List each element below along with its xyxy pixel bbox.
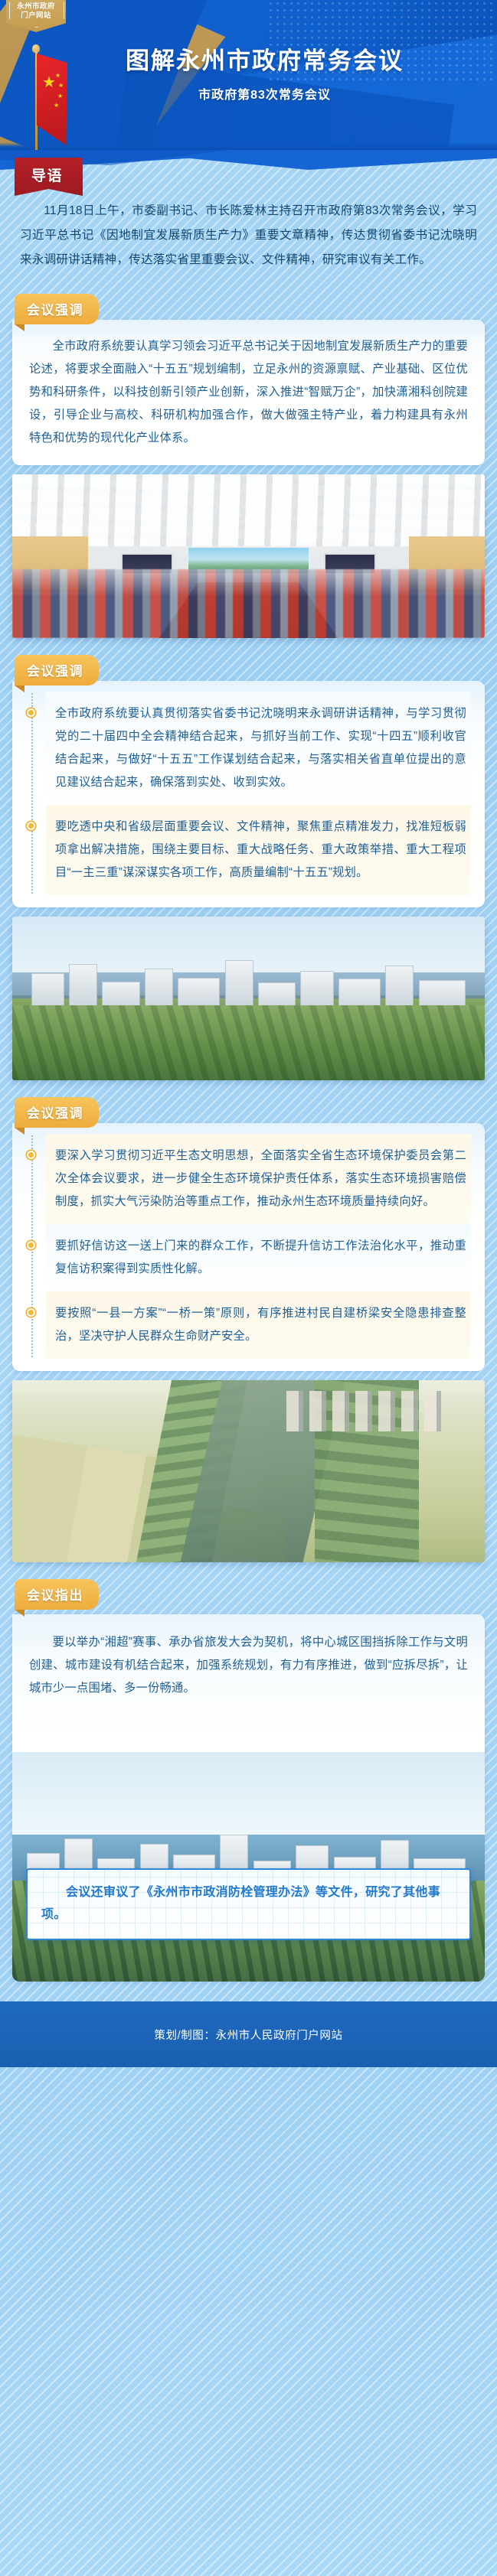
hero-text-group: 图解永州市政府常务会议 市政府第83次常务会议 [0,41,497,103]
section-1-badge: 会议强调 [15,294,99,324]
list-item: 要深入学习贯彻习近平生态文明思想，全面落实全省生态环境保护委员会第二次全体会议要… [46,1134,471,1224]
ceiling-lights [12,474,485,546]
section-1: 会议强调 全市政府系统要认真学习领会习近平总书记关于因地制宜发展新质生产力的重要… [0,294,497,465]
foreground-vegetation [12,1005,485,1080]
section-2: 会议强调 全市政府系统要认真贯彻落实省委书记沈晓明来永调研讲话精神，与学习贯彻党… [0,655,497,907]
intro-section: 导语 [0,158,497,196]
intro-badge-wrap: 导语 [15,158,83,196]
logo-line-2: 门户网站 [21,11,51,21]
section-1-paragraph: 全市政府系统要认真学习领会习近平总书记关于因地制宜发展新质生产力的重要论述，将要… [29,335,468,450]
logo-line-1: 永州市政府 [17,2,55,11]
bullet-dot-icon [27,708,35,717]
bullet-text: 要抓好信访这一送上门来的群众工作，不断提升信访工作法治化水平，推动重复信访积案得… [55,1235,466,1281]
photo-haze-overlay [12,1380,485,1562]
section-4-paragraph: 要以举办“湘超”赛事、承办省旅发大会为契机，将中心城区围挡拆除工作与文明创建、城… [29,1631,468,1700]
section-2-bullet-list: 全市政府系统要认真贯彻落实省委书记沈晓明来永调研讲话精神，与学习贯彻党的二十届四… [26,692,471,895]
list-item: 要吃透中央和省级层面重要会议、文件精神，聚焦重点精准发力，找准短板弱项拿出解决措… [46,805,471,895]
hero-banner: 永州市政府 门户网站 ★ ★ ★ ★ ★ 图解永州市政府常务会议 市政府第83次… [0,0,497,150]
infographic-page: 永州市政府 门户网站 ★ ★ ★ ★ ★ 图解永州市政府常务会议 市政府第83次… [0,0,497,2576]
buildings-group [12,946,485,1012]
intro-badge: 导语 [15,158,83,196]
rural-river-photo [12,1380,485,1562]
section-3-bullet-list: 要深入学习贯彻习近平生态文明思想，全面落实全省生态环境保护委员会第二次全体会议要… [26,1134,471,1359]
bullet-dot-icon [27,822,35,830]
section-1-badge-wrap: 会议强调 [15,294,99,324]
page-subtitle: 市政府第83次常务会议 [0,84,497,103]
section-4-card: 要以举办“湘超”赛事、承办省旅发大会为契机，将中心城区围挡拆除工作与文明创建、城… [12,1614,485,1982]
section-2-card: 全市政府系统要认真贯彻落实省委书记沈晓明来永调研讲话精神，与学习贯彻党的二十届四… [12,681,485,907]
section-3-badge: 会议强调 [15,1097,99,1128]
bullet-dot-icon [27,1308,35,1317]
section-4-badge-wrap: 会议指出 [15,1579,99,1610]
bullet-dot-icon [27,1151,35,1159]
building [225,960,253,1011]
resolution-box: 会议还审议了《永州市市政消防栓管理办法》等文件，研究了其他事项。 [26,1868,471,1940]
flag-star-small-4: ★ [54,103,59,109]
section-4: 会议指出 [0,1579,497,1610]
meeting-room-photo [12,474,485,638]
section-3-badge-wrap: 会议强调 [15,1097,99,1128]
footer: 策划/制图：永州市人民政府门户网站 [0,2001,497,2067]
bullet-text: 全市政府系统要认真贯彻落实省委书记沈晓明来永调研讲话精神，与学习贯彻党的二十届四… [55,702,466,794]
list-item: 要按照“一县一方案”“一桥一策”原则，有序推进村民自建桥梁安全隐患排查整治，坚决… [46,1291,471,1359]
section-4-text-wrap: 要以举办“湘超”赛事、承办省旅发大会为契机，将中心城区围挡拆除工作与文明创建、城… [12,1614,485,1708]
hero-bottom-band [0,142,497,150]
resolution-text: 会议还审议了《永州市市政消防栓管理办法》等文件，研究了其他事项。 [41,1881,456,1926]
attendees [12,569,485,638]
section-3-card: 要深入学习贯彻习近平生态文明思想，全面落实全省生态环境保护委员会第二次全体会议要… [12,1123,485,1371]
page-title: 图解永州市政府常务会议 [0,41,497,76]
intro-paragraph: 11月18日上午，市委副书记、市长陈爱林主持召开市政府第83次常务会议，学习习近… [20,199,477,272]
section-2-badge-wrap: 会议强调 [15,655,99,686]
list-item: 全市政府系统要认真贯彻落实省委书记沈晓明来永调研讲话精神，与学习贯彻党的二十届四… [46,692,471,805]
city-lake-photo [12,1752,485,1982]
intro-body: 11月18日上午，市委副书记、市长陈爱林主持召开市政府第83次常务会议，学习习近… [0,199,497,272]
section-4-badge: 会议指出 [15,1579,99,1610]
bullet-text: 要深入学习贯彻习近平生态文明思想，全面落实全省生态环境保护委员会第二次全体会议要… [55,1145,466,1213]
city-skyline-photo [12,917,485,1080]
bullet-dot-icon [27,1241,35,1249]
bullet-text: 要吃透中央和省级层面重要会议、文件精神，聚焦重点精准发力，找准短板弱项拿出解决措… [55,816,466,884]
section-2-badge: 会议强调 [15,655,99,686]
list-item: 要抓好信访这一送上门来的群众工作，不断提升信访工作法治化水平，推动重复信访积案得… [46,1224,471,1291]
section-1-card: 全市政府系统要认真学习领会习近平总书记关于因地制宜发展新质生产力的重要论述，将要… [12,320,485,465]
section-3: 会议强调 要深入学习贯彻习近平生态文明思想，全面落实全省生态环境保护委员会第二次… [0,1097,497,1371]
bullet-text: 要按照“一县一方案”“一桥一策”原则，有序推进村民自建桥梁安全隐患排查整治，坚决… [55,1302,466,1348]
footer-credit: 策划/制图：永州市人民政府门户网站 [154,2027,342,2043]
